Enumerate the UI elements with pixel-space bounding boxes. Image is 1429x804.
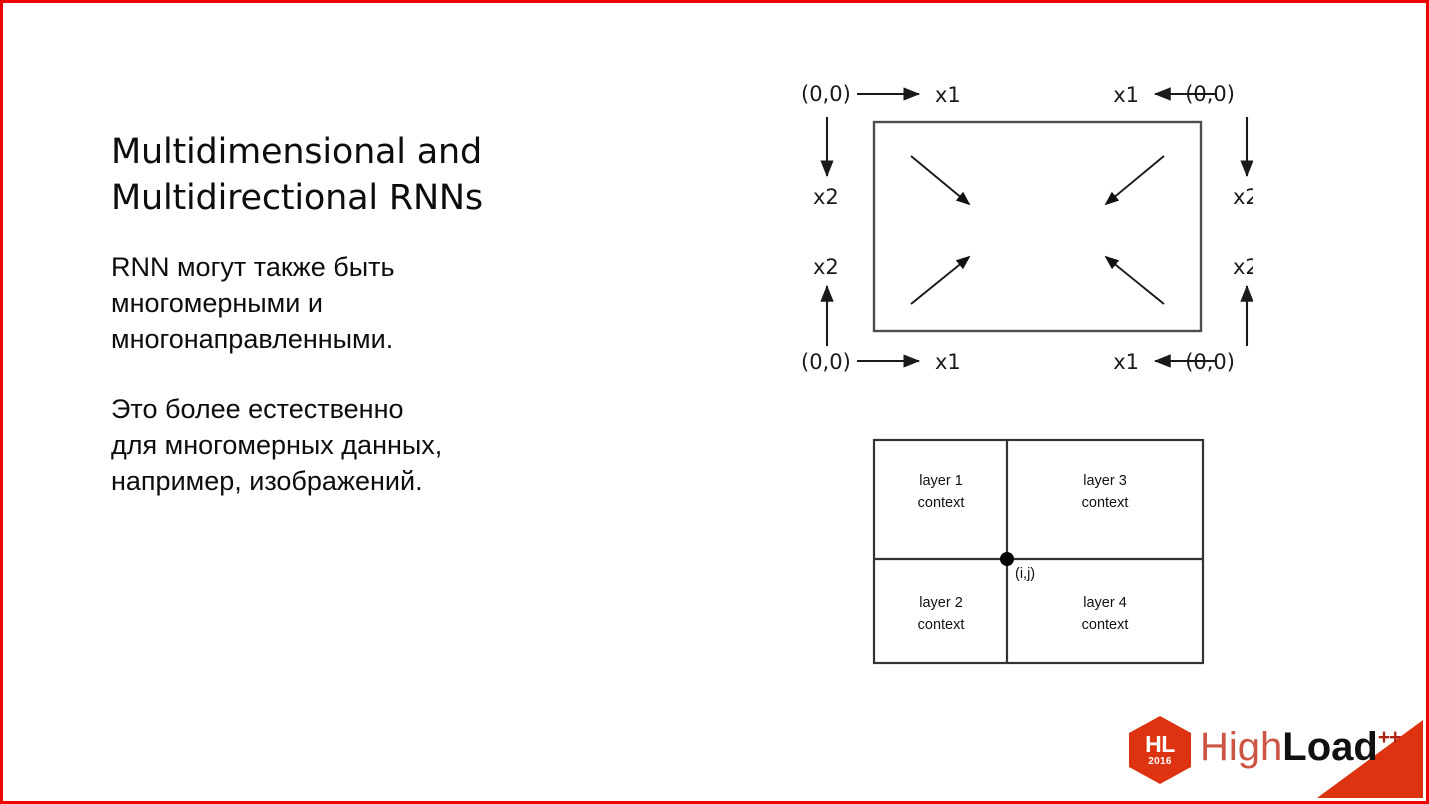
origin-label-bottom-left: (0,0): [801, 350, 851, 374]
layer-context-svg: (i,j) layer 1 context layer 3 context la…: [843, 423, 1243, 683]
highload-logo: HL 2016 HighLoad++: [1129, 716, 1400, 784]
logo-badge-year: 2016: [1129, 756, 1191, 767]
scan-arrow-down-right: [911, 156, 969, 204]
center-point-marker: [1000, 552, 1014, 566]
axis-label-top-right-x1: x1: [1113, 83, 1139, 107]
axis-label-top-left-x2: x2: [813, 185, 839, 209]
multidirectional-scan-diagram: (0,0) x1 x2 (0,0) x1 x2 (0,0) x1 x2 (0,0…: [783, 61, 1253, 391]
axis-label-bottom-left-x1: x1: [935, 350, 961, 374]
axis-label-bottom-right-x2: x2: [1233, 255, 1253, 279]
quadrant-label-top-left-line1: layer 1: [919, 473, 963, 489]
center-point-label: (i,j): [1015, 566, 1035, 582]
scan-arrow-up-right: [911, 257, 969, 304]
multidirectional-scan-svg: (0,0) x1 x2 (0,0) x1 x2 (0,0) x1 x2 (0,0…: [783, 61, 1253, 391]
logo-word-plus: ++: [1378, 726, 1401, 749]
logo-word-high: High: [1200, 725, 1282, 769]
scan-arrow-up-left: [1106, 257, 1164, 304]
logo-badge-text: HL: [1129, 733, 1191, 755]
hexagon-badge-icon: HL 2016: [1129, 716, 1191, 784]
axis-label-bottom-left-x2: x2: [813, 255, 839, 279]
body-paragraph-2: Это более естественно для многомерных да…: [111, 391, 591, 499]
slide-canvas: Multidimensional and Multidirectional RN…: [0, 0, 1429, 804]
quadrant-label-bottom-left-line2: context: [918, 617, 965, 633]
quadrant-label-top-right-line2: context: [1082, 495, 1129, 511]
quadrant-label-top-right-line1: layer 3: [1083, 473, 1127, 489]
scan-area-rectangle: [874, 122, 1201, 331]
quadrant-label-bottom-right-line2: context: [1082, 617, 1129, 633]
scan-arrow-down-left: [1106, 156, 1164, 204]
text-column: Multidimensional and Multidirectional RN…: [111, 129, 591, 533]
axis-label-bottom-right-x1: x1: [1113, 350, 1139, 374]
quadrant-label-top-left-line2: context: [918, 495, 965, 511]
page-title: Multidimensional and Multidirectional RN…: [111, 129, 591, 221]
logo-word-load: Load: [1282, 725, 1378, 769]
logo-wordmark: HighLoad++: [1200, 727, 1400, 774]
body-paragraph-1: RNN могут также быть многомерными и мног…: [111, 249, 591, 357]
axis-label-top-right-x2: x2: [1233, 185, 1253, 209]
origin-label-top-left: (0,0): [801, 82, 851, 106]
layer-context-quadrants: (i,j) layer 1 context layer 3 context la…: [843, 423, 1243, 683]
quadrant-label-bottom-right-line1: layer 4: [1083, 595, 1127, 611]
quadrant-label-bottom-left-line1: layer 2: [919, 595, 963, 611]
axis-label-top-left-x1: x1: [935, 83, 961, 107]
